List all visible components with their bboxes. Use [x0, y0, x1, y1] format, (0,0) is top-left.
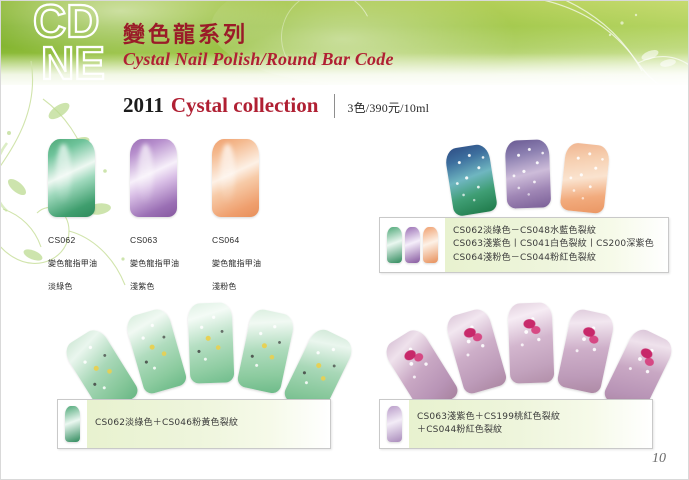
- cdne-logo: CD NE: [27, 0, 137, 87]
- product-name: 變色龍指甲油: [212, 258, 261, 270]
- collection-year: 2011: [123, 93, 164, 118]
- caption-line: CS064淺粉色－CS044粉紅色裂紋: [453, 252, 660, 266]
- nail-shine: [220, 144, 234, 205]
- pink-nail-4: [556, 307, 616, 394]
- nail-art-overlay: [188, 302, 235, 383]
- top-right-nail-samples: [449, 140, 609, 214]
- svg-text:NE: NE: [41, 37, 105, 87]
- green-nail-fan: [79, 299, 349, 399]
- caption-line: CS062淡綠色＋CS046粉黃色裂紋: [95, 417, 322, 431]
- collection-heading: 2011 Cystal collection 3色/390元/10ml: [123, 93, 429, 118]
- caption-swatches: [380, 400, 409, 448]
- product-code: CS064: [212, 235, 261, 247]
- caption-box-bottom-right: CS063淺紫色＋CS199桃紅色裂紋 ＋CS044粉紅色裂紋: [379, 399, 653, 449]
- nail-sample-cs063: [130, 139, 177, 217]
- swatch-cs064: [423, 227, 438, 263]
- page-title-en: Cystal Nail Polish/Round Bar Code: [123, 49, 394, 70]
- product-shade: 淺粉色: [212, 281, 261, 293]
- price-note: 3色/390元/10ml: [347, 99, 429, 116]
- nail-art-sample-cs062-cs048: [444, 143, 498, 217]
- pink-nail-fan: [399, 299, 669, 399]
- nail-art-sample-cs063-cs041-cs200: [505, 139, 551, 208]
- caption-line: CS063淺紫色＋CS199桃紅色裂紋: [417, 411, 644, 425]
- caption-box-bottom-left: CS062淡綠色＋CS046粉黃色裂紋: [57, 399, 331, 449]
- product-label-1: CS063 變色龍指甲油 淺紫色: [130, 223, 179, 304]
- swatch-cs062: [387, 227, 402, 263]
- swatch-cs062: [65, 406, 80, 442]
- nail-art-sample-cs064-cs044: [560, 142, 611, 214]
- product-code: CS062: [48, 235, 97, 247]
- glitter-overlay: [505, 139, 551, 208]
- nail-art-overlay: [508, 302, 555, 383]
- caption-swatches: [380, 218, 445, 272]
- green-nail-4: [236, 307, 296, 394]
- catalog-page: CD NE 變色龍系列 Cystal Nail Polish/Round Bar…: [0, 0, 689, 480]
- nail-shine: [138, 144, 152, 205]
- heading-divider: [334, 94, 335, 118]
- caption-line: CS062淡綠色－CS048水藍色裂紋: [453, 225, 660, 239]
- page-title-cn: 變色龍系列: [123, 17, 248, 49]
- product-label-2: CS064 變色龍指甲油 淺粉色: [212, 223, 261, 304]
- caption-box-top-right: CS062淡綠色－CS048水藍色裂紋 CS063淺紫色丨CS041白色裂紋丨C…: [379, 217, 669, 273]
- swatch-cs063: [387, 406, 402, 442]
- nail-sample-cs064: [212, 139, 259, 217]
- main-nail-samples: [48, 139, 338, 219]
- swatch-cs063: [405, 227, 420, 263]
- product-shade: 淡綠色: [48, 281, 97, 293]
- glitter-overlay: [560, 142, 611, 214]
- caption-text-area: CS063淺紫色＋CS199桃紅色裂紋 ＋CS044粉紅色裂紋: [409, 400, 652, 448]
- caption-line: CS063淺紫色丨CS041白色裂紋丨CS200深紫色: [453, 238, 660, 252]
- nail-art-overlay: [236, 307, 296, 394]
- nail-sample-cs062: [48, 139, 95, 217]
- product-shade: 淺紫色: [130, 281, 179, 293]
- glitter-overlay: [444, 143, 498, 217]
- nail-art-overlay: [556, 307, 616, 394]
- caption-swatches: [58, 400, 87, 448]
- caption-text-area: CS062淡綠色＋CS046粉黃色裂紋: [87, 400, 330, 448]
- page-number: 10: [652, 451, 666, 467]
- green-nail-3: [188, 302, 235, 383]
- product-label-0: CS062 變色龍指甲油 淡綠色: [48, 223, 97, 304]
- pink-nail-3: [508, 302, 555, 383]
- nail-shine: [56, 144, 70, 205]
- caption-text-area: CS062淡綠色－CS048水藍色裂紋 CS063淺紫色丨CS041白色裂紋丨C…: [445, 218, 668, 272]
- caption-line: ＋CS044粉紅色裂紋: [417, 424, 644, 438]
- collection-name: Cystal collection: [171, 93, 319, 118]
- product-code: CS063: [130, 235, 179, 247]
- product-name: 變色龍指甲油: [48, 258, 97, 270]
- product-name: 變色龍指甲油: [130, 258, 179, 270]
